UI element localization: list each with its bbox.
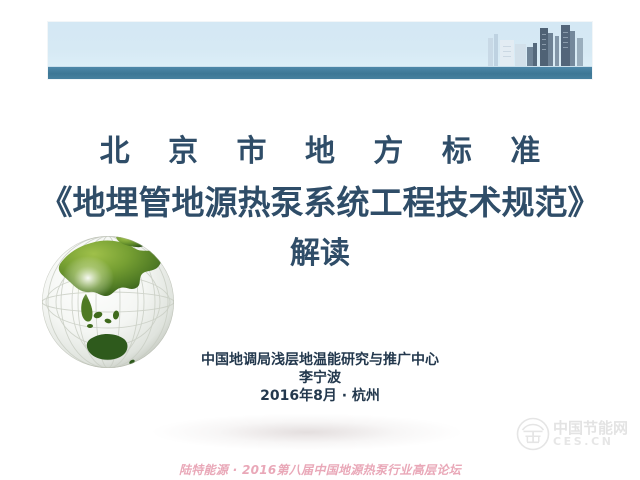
slide-title-line-3: 解读 — [0, 228, 640, 272]
presenter-name: 李宁波 — [0, 370, 640, 388]
watermark: 中国节能网 CES.CN — [516, 414, 634, 454]
watermark-english-text: CES.CN — [553, 436, 628, 447]
footer-banner: 陆特能源 · 2016第八届中国地源热泵行业高层论坛 — [0, 459, 640, 478]
author-block: 中国地调局浅层地温能研究与推广中心 李宁波 2016年8月 · 杭州 — [0, 352, 640, 406]
header-water-band — [48, 67, 592, 79]
presentation-slide: 北 京 市 地 方 标 准 《地埋管地源热泵系统工程技术规范》 解读 中国地调局… — [0, 0, 640, 480]
watermark-chinese-text: 中国节能网 — [553, 421, 628, 436]
footer-event-text: 陆特能源 · 2016第八届中国地源热泵行业高层论坛 — [179, 461, 461, 478]
slide-title-line-1: 北 京 市 地 方 标 准 — [0, 126, 640, 170]
affiliation-text: 中国地调局浅层地温能研究与推广中心 — [0, 352, 640, 370]
slide-title-line-2: 《地埋管地源热泵系统工程技术规范》 — [0, 176, 640, 224]
date-and-place: 2016年8月 · 杭州 — [0, 388, 640, 406]
decorative-header-banner — [48, 22, 592, 79]
cityscape-skyline-icon — [432, 22, 592, 68]
ces-circular-logo-icon — [516, 417, 550, 451]
